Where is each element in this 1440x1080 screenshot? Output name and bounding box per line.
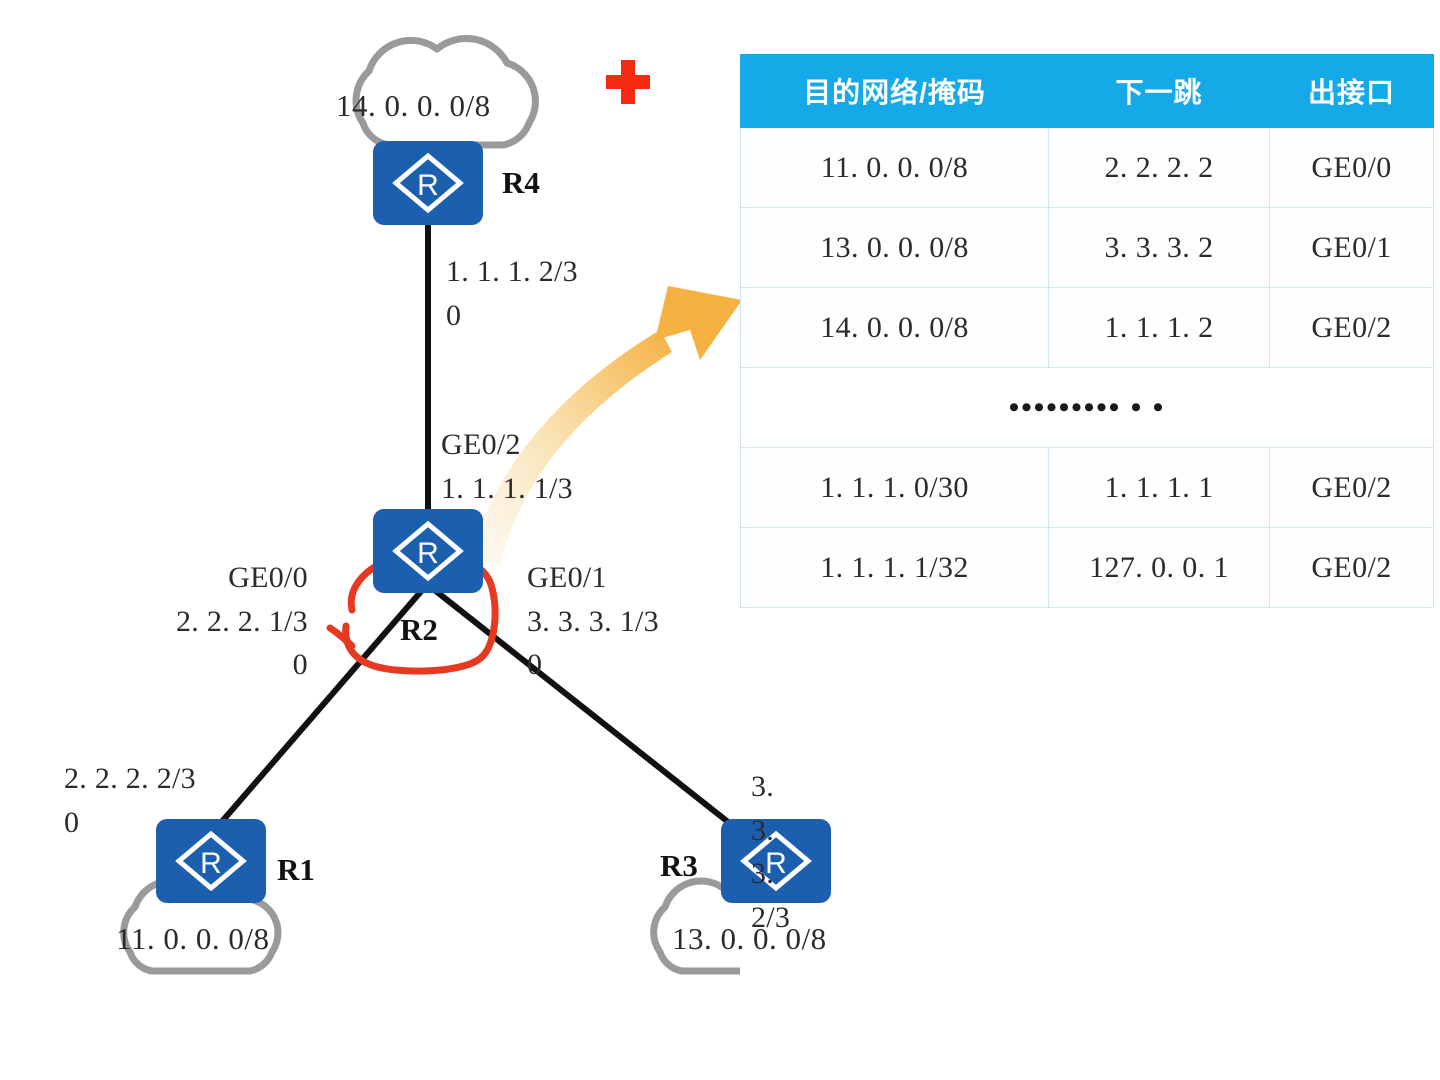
cell-interface: GE0/0 [1270,128,1434,208]
cell-destination: 11. 0. 0. 0/8 [741,128,1049,208]
router-node-r2[interactable]: R [374,510,482,592]
table-row-ellipsis: ••••••••• • • [741,368,1434,448]
cell-interface: GE0/1 [1270,208,1434,288]
cell-next-hop: 3. 3. 3. 2 [1049,208,1270,288]
column-header-destination: 目的网络/掩码 [741,55,1049,128]
link-label-r2-right: GE0/1 3. 3. 3. 1/3 0 [527,556,659,687]
cell-interface: GE0/2 [1270,288,1434,368]
link-label-r4-down: 1. 1. 1. 2/3 0 [446,250,578,337]
router-label-r3: R3 [660,848,698,884]
svg-text:R: R [200,847,222,880]
router-icon: R [374,142,482,224]
cloud-label-r3: 13. 0. 0. 0/8 [672,921,827,957]
router-node-r4[interactable]: R [374,142,482,224]
table-row: 1. 1. 1. 0/30 1. 1. 1. 1 GE0/2 [741,448,1434,528]
cell-next-hop: 2. 2. 2. 2 [1049,128,1270,208]
cell-destination: 1. 1. 1. 1/32 [741,528,1049,608]
routing-table: 目的网络/掩码 下一跳 出接口 11. 0. 0. 0/8 2. 2. 2. 2… [740,54,1434,608]
column-header-interface: 出接口 [1270,55,1434,128]
table-row: 1. 1. 1. 1/32 127. 0. 0. 1 GE0/2 [741,528,1434,608]
ellipsis-row-text: ••••••••• • • [741,368,1434,448]
red-cross-icon [604,58,652,106]
link-label-r1-up: 2. 2. 2. 2/3 0 [64,757,196,844]
cloud-label-r4: 14. 0. 0. 0/8 [336,88,491,124]
link-label-r3-up: 3. 3. 3. 2/3 [751,765,790,939]
svg-text:R: R [417,537,439,570]
router-icon: R [374,510,482,592]
table-row: 11. 0. 0. 0/8 2. 2. 2. 2 GE0/0 [741,128,1434,208]
cell-destination: 1. 1. 1. 0/30 [741,448,1049,528]
cell-interface: GE0/2 [1270,448,1434,528]
cell-interface: GE0/2 [1270,528,1434,608]
link-label-r2-up: GE0/2 1. 1. 1. 1/3 [441,423,573,510]
router-label-r1: R1 [277,852,315,888]
topology-graphics [0,0,740,1080]
cell-destination: 14. 0. 0. 0/8 [741,288,1049,368]
link-label-r2-left: GE0/0 2. 2. 2. 1/3 0 [176,556,308,687]
cloud-label-r1: 11. 0. 0. 0/8 [116,921,269,957]
router-label-r4: R4 [502,165,540,201]
cell-next-hop: 1. 1. 1. 2 [1049,288,1270,368]
network-topology-diagram: R R4 R R2 R R1 R R3 14. 0. 0. 0/8 11. 0.… [0,0,740,1080]
routing-table-header-row: 目的网络/掩码 下一跳 出接口 [741,55,1434,128]
column-header-next-hop: 下一跳 [1049,55,1270,128]
router-label-r2: R2 [400,612,438,648]
cell-destination: 13. 0. 0. 0/8 [741,208,1049,288]
table-row: 14. 0. 0. 0/8 1. 1. 1. 2 GE0/2 [741,288,1434,368]
svg-text:R: R [417,169,439,202]
table-row: 13. 0. 0. 0/8 3. 3. 3. 2 GE0/1 [741,208,1434,288]
cell-next-hop: 127. 0. 0. 1 [1049,528,1270,608]
cell-next-hop: 1. 1. 1. 1 [1049,448,1270,528]
